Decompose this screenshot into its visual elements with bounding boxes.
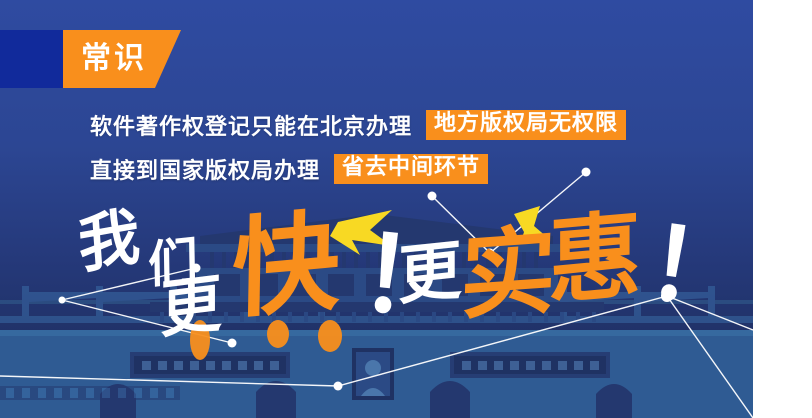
tag-label: 常识 xyxy=(81,44,147,74)
headline-2-text: 直接到国家版权局办理 xyxy=(90,153,320,185)
gate-banner-left xyxy=(130,352,290,378)
leader-portrait xyxy=(352,348,394,400)
promo-banner: 常识 软件著作权登记只能在北京办理 地方版权局无权限 直接到国家版权局办理 省去… xyxy=(0,0,753,418)
right-margin xyxy=(753,0,812,418)
headline-1-text: 软件著作权登记只能在北京办理 xyxy=(90,109,412,141)
headline-line-1: 软件著作权登记只能在北京办理 地方版权局无权限 xyxy=(90,109,626,141)
category-tag[interactable]: 常识 xyxy=(0,30,181,88)
tag-accent-block xyxy=(0,30,63,88)
headline-2-badge: 省去中间环节 xyxy=(334,154,488,184)
headline-1-badge: 地方版权局无权限 xyxy=(426,110,626,140)
tag-body: 常识 xyxy=(63,30,181,88)
headline-line-2: 直接到国家版权局办理 省去中间环节 xyxy=(90,153,488,185)
gate-banner-right xyxy=(450,352,610,378)
